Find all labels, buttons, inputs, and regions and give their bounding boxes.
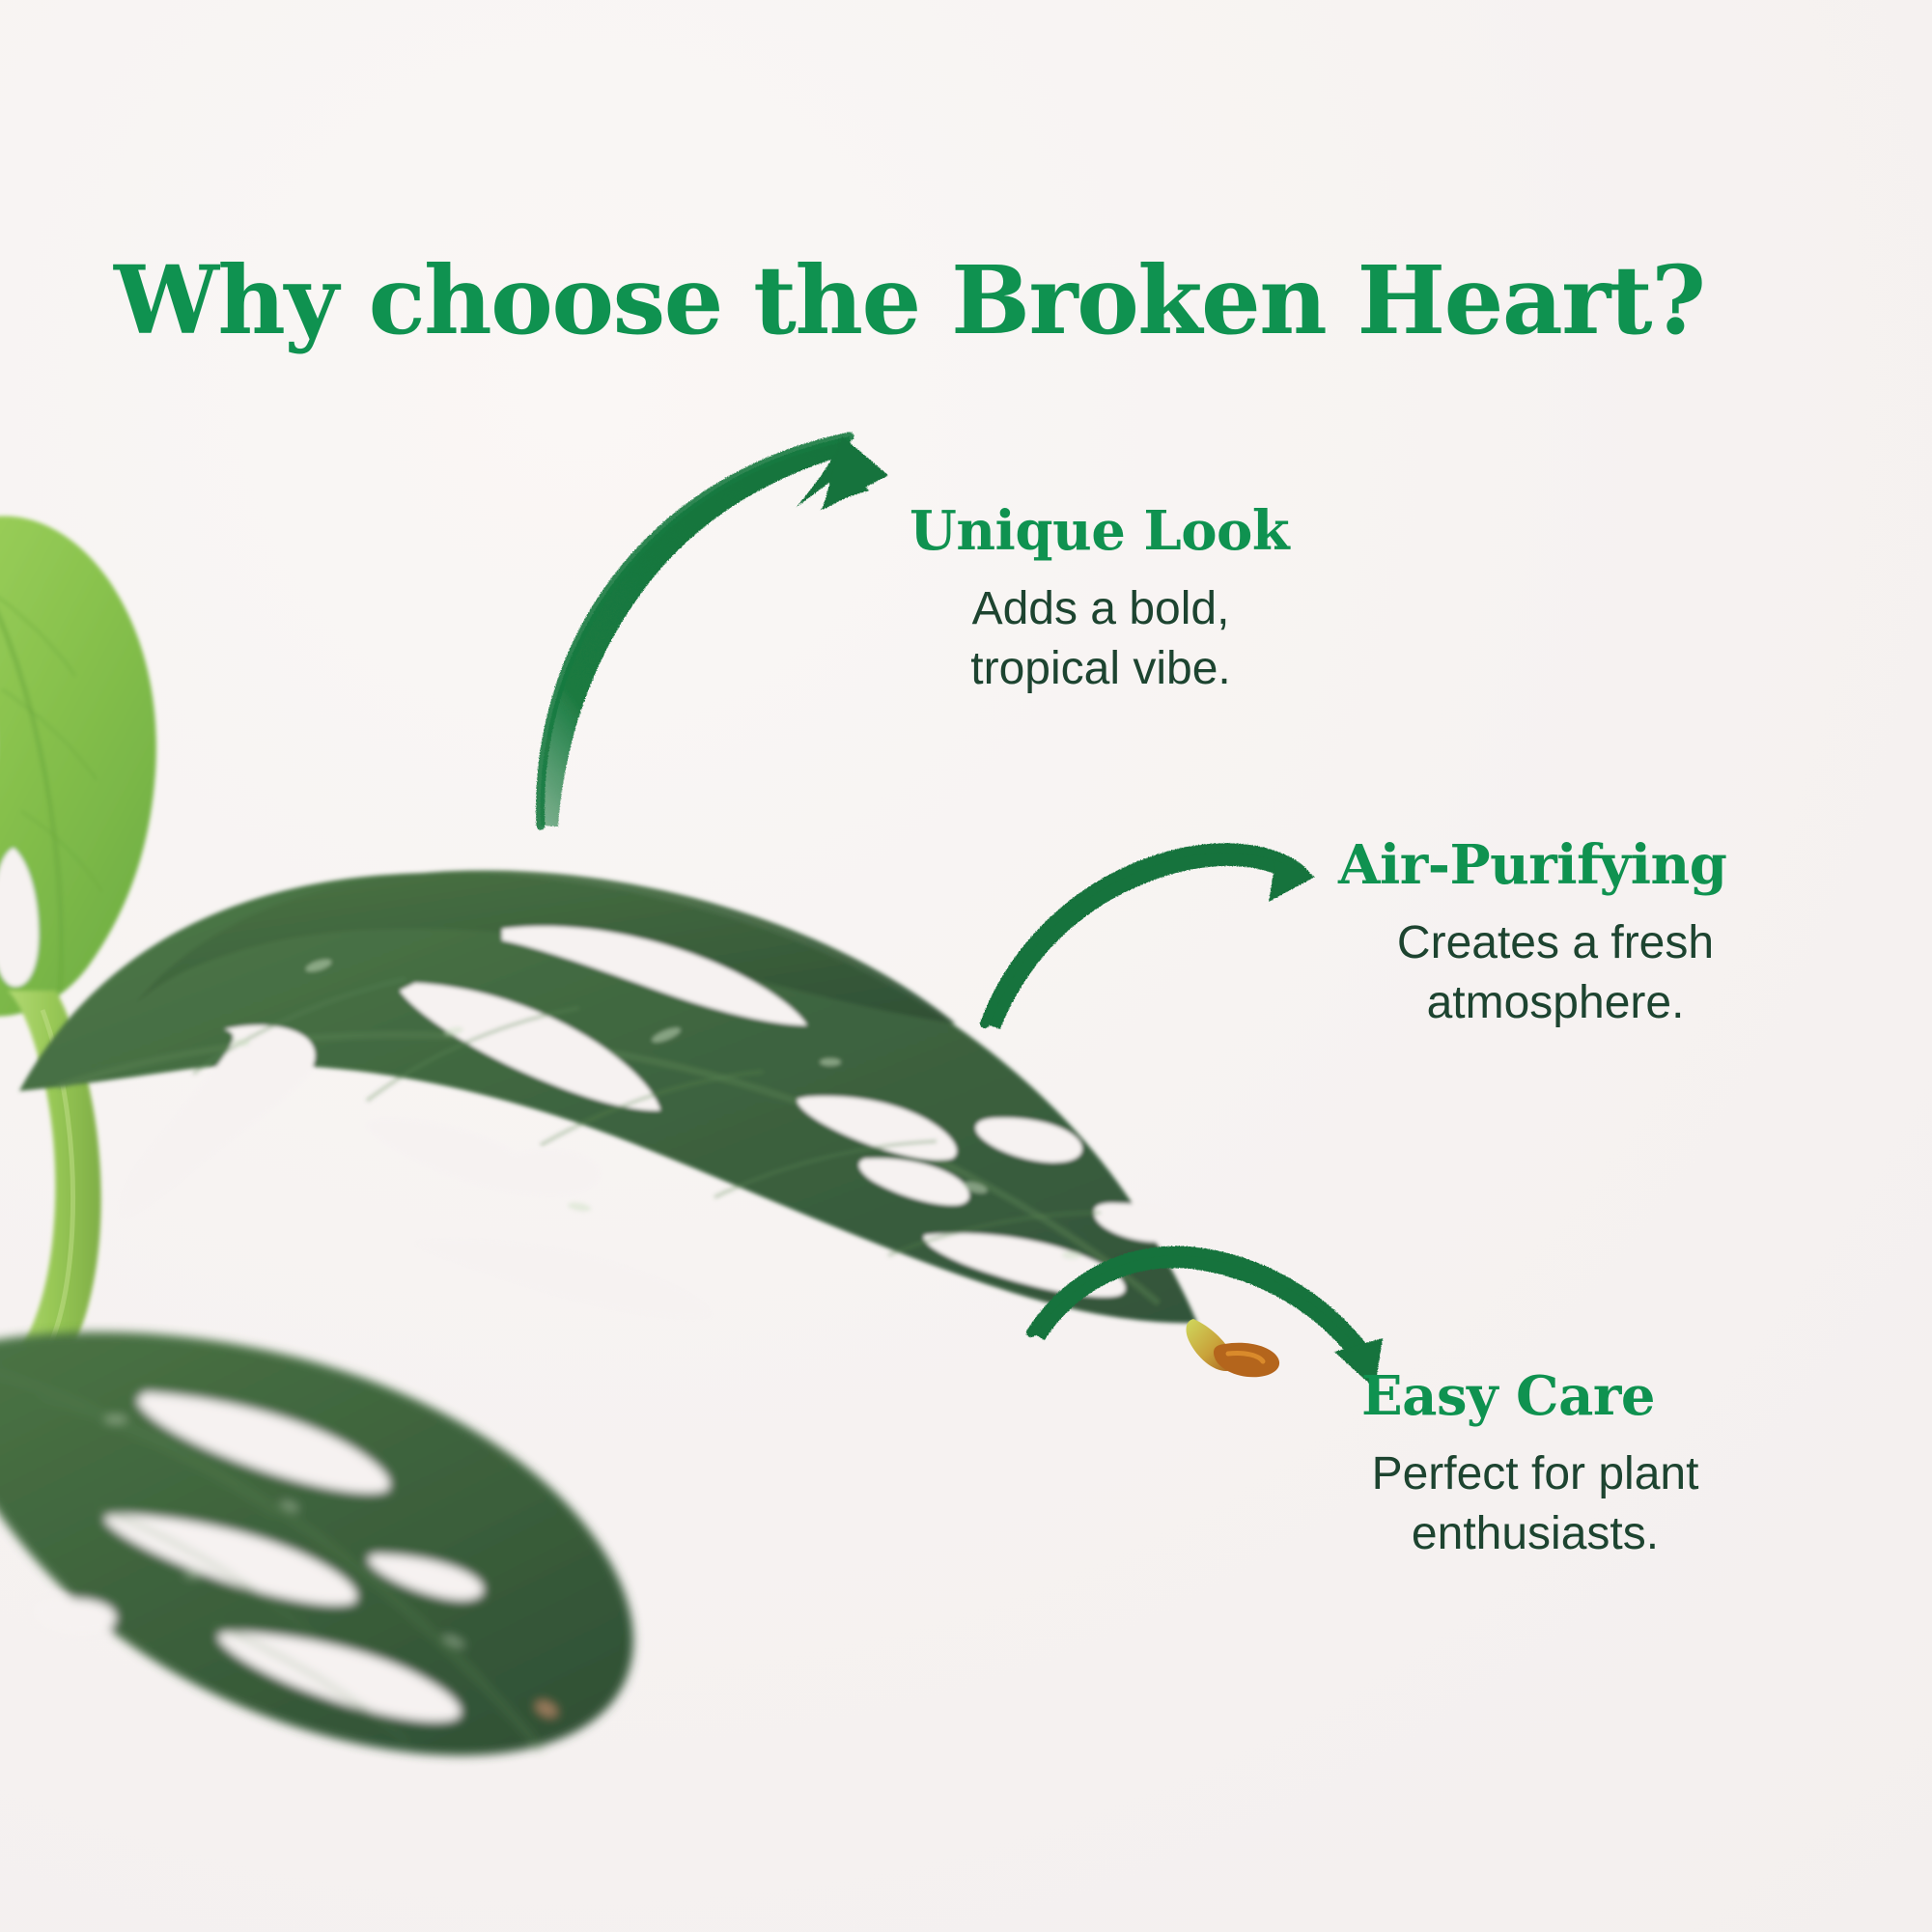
feature-body-air-purifying: Creates a fresh atmosphere. — [1325, 913, 1778, 1034]
feature-air-purifying: Air-Purifying Creates a fresh atmosphere… — [1325, 838, 1778, 1034]
feature-title-air-purifying: Air-Purifying — [1325, 838, 1778, 892]
feature-title-unique-look: Unique Look — [898, 504, 1303, 558]
poster-canvas: Why choose the Broken Heart? Unique Look… — [0, 0, 1932, 1932]
page-title: Why choose the Broken Heart? — [114, 252, 1813, 350]
feature-body-easy-care: Perfect for plant enthusiasts. — [1332, 1444, 1738, 1565]
feature-body-unique-look: Adds a bold, tropical vibe. — [898, 579, 1303, 700]
feature-unique-look: Unique Look Adds a bold, tropical vibe. — [898, 504, 1303, 700]
feature-easy-care: Easy Care Perfect for plant enthusiasts. — [1332, 1369, 1738, 1565]
feature-title-easy-care: Easy Care — [1332, 1369, 1738, 1423]
